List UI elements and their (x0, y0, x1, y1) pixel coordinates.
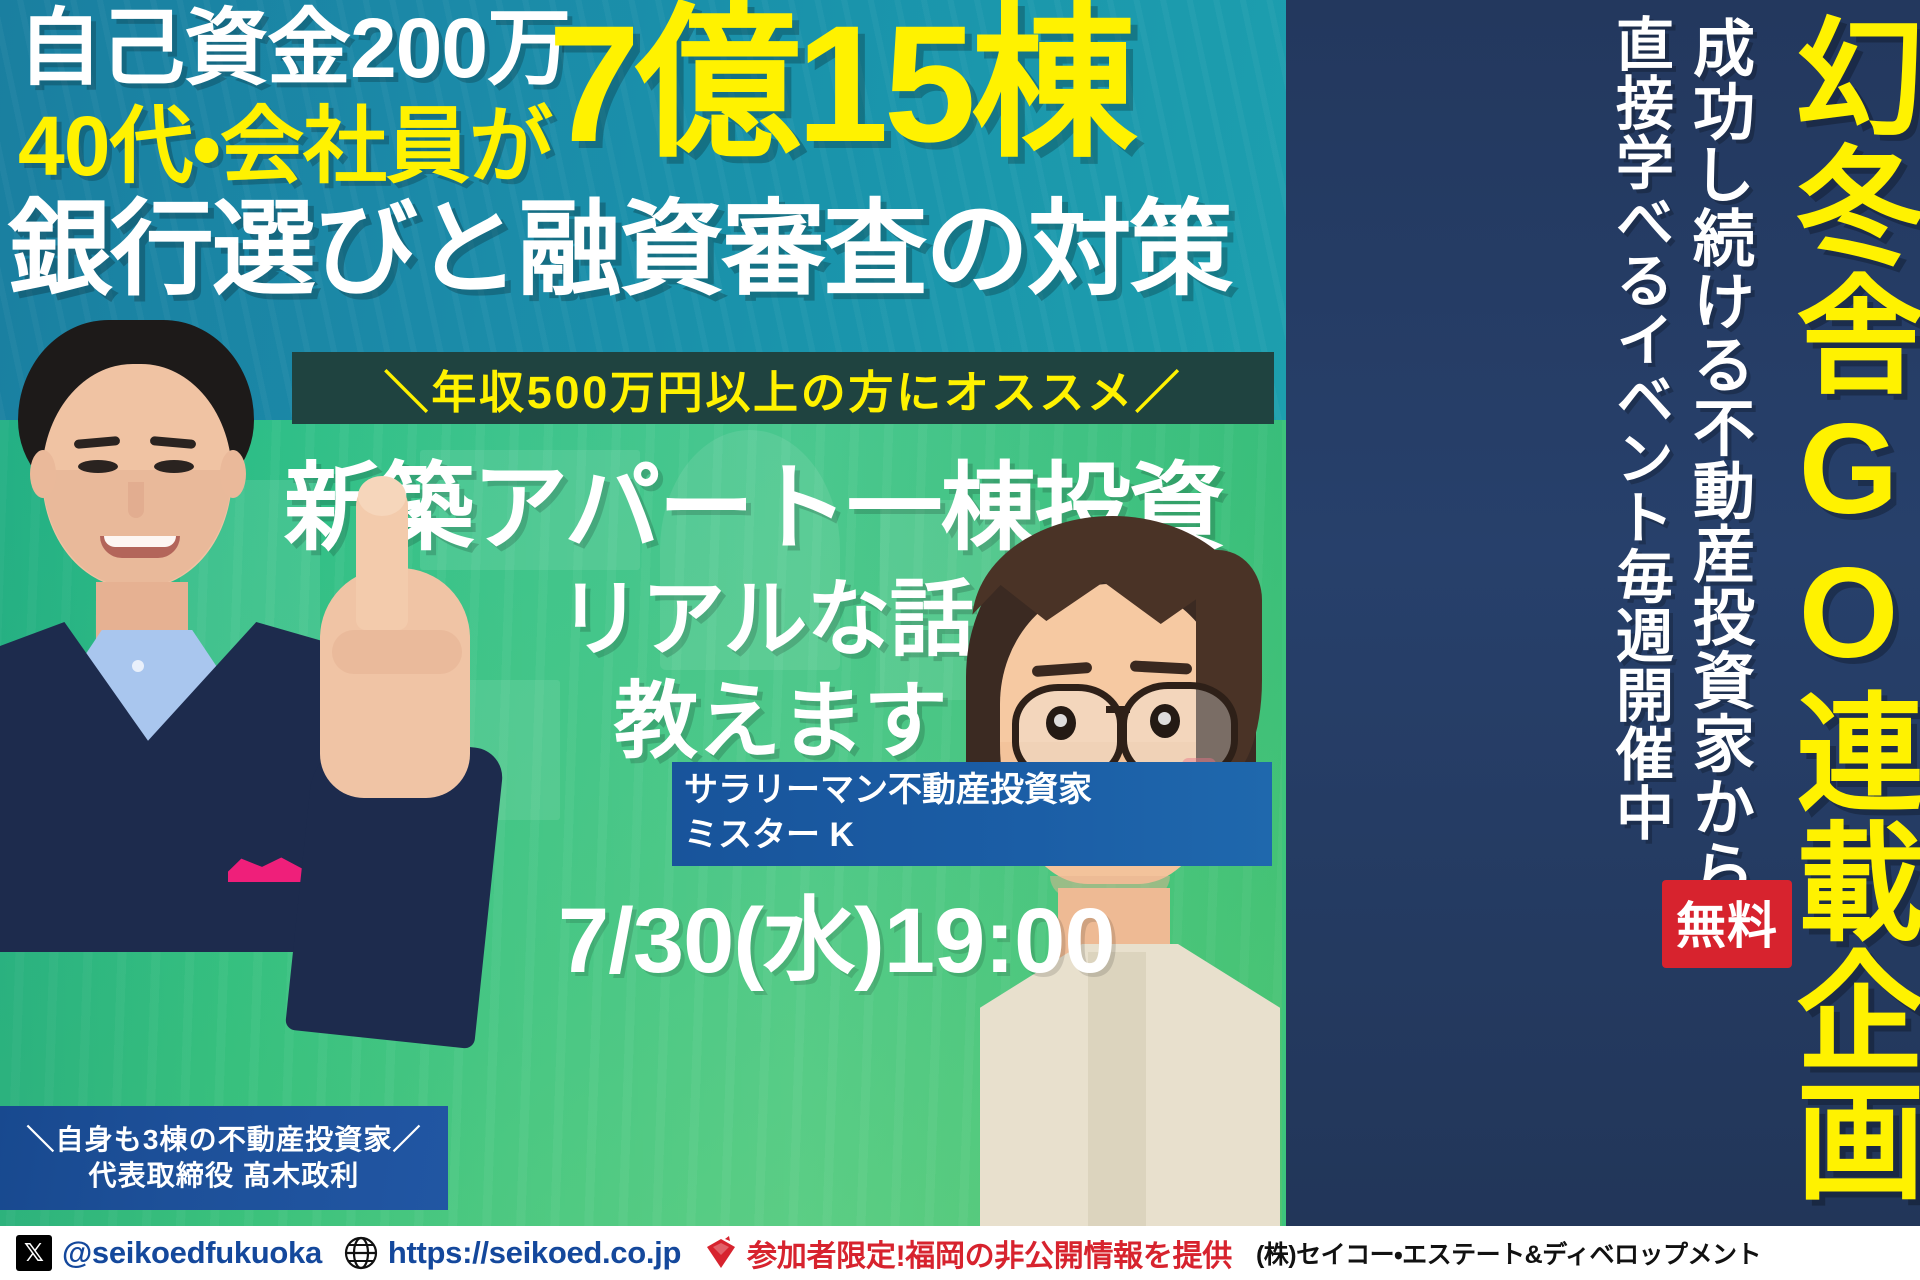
presenter-ear-right (220, 450, 246, 498)
sidebar-subline-2: 直接学べるイベント毎週開催中 (1610, 14, 1668, 842)
right-sidebar: 幻冬舎GO連載企画 成功し続ける不動産投資家から 直接学べるイベント毎週開催中 … (1286, 0, 1920, 1226)
free-badge-label: 無料 (1676, 898, 1778, 954)
event-datetime: 7/30(水)19:00 (558, 866, 1115, 999)
promo-note: 参加者限定!福岡の非公開情報を提供 (703, 1231, 1256, 1275)
presenter-shirt-button (132, 660, 144, 672)
main-panel: 自己資金200万 40代・会社員が 7億15棟 銀行選びと融資審査の対策 ＼年収… (0, 0, 1286, 1226)
brand-vertical-title: 幻冬舎GO連載企画 (1784, 10, 1912, 1204)
representative-box: ＼自身も3棟の不動産投資家／ 代表取締役 髙木政利 (0, 1106, 448, 1210)
anime-glasses-bridge (1106, 706, 1130, 713)
speaker-name: ミスター K (684, 813, 1272, 858)
x-glyph: 𝕏 (24, 1241, 44, 1266)
headline-line-1: 自己資金200万 (18, 6, 570, 90)
company-name-wrap: (株)セイコー・エステート&ディベロップメント (1256, 1235, 1761, 1271)
x-handle: @seikoedfukuoka (62, 1235, 322, 1271)
headline-big-number: 7億15棟 (548, 2, 1132, 168)
diamond-icon (703, 1235, 739, 1271)
website-link[interactable]: https://seikoed.co.jp (344, 1235, 703, 1271)
headline-line-2: 40代・会社員が (18, 104, 552, 188)
presenter-photo (0, 300, 560, 1226)
footer-bar: 𝕏 @seikoedfukuoka https://seikoed.co.jp … (0, 1226, 1920, 1280)
anime-eye-highlight-right (1158, 712, 1171, 725)
x-logo-icon: 𝕏 (16, 1235, 52, 1271)
free-badge: 無料 (1662, 880, 1792, 968)
presenter-fingertip (358, 476, 406, 516)
speaker-role: サラリーマン不動産投資家 (684, 768, 1272, 813)
speaker-info-band: サラリーマン不動産投資家 ミスター K (672, 762, 1272, 866)
promo-text: 参加者限定!福岡の非公開情報を提供 (747, 1231, 1232, 1275)
poster-canvas: 自己資金200万 40代・会社員が 7億15棟 銀行選びと融資審査の対策 ＼年収… (0, 0, 1920, 1280)
green-headline-3: 教えます (614, 654, 947, 775)
anime-eye-highlight-left (1054, 714, 1067, 727)
representative-name: 代表取締役 髙木政利 (89, 1158, 360, 1194)
presenter-ear-left (30, 450, 56, 498)
presenter-eye-right (154, 460, 194, 473)
sidebar-subline-1: 成功し続ける不動産投資家から (1686, 16, 1748, 901)
globe-icon (344, 1236, 378, 1270)
presenter-nose (128, 482, 144, 518)
representative-tagline: ＼自身も3棟の不動産投資家／ (26, 1122, 421, 1158)
headline-line-3: 銀行選びと融資審査の対策 (8, 198, 1231, 302)
x-account[interactable]: 𝕏 @seikoedfukuoka (16, 1235, 344, 1271)
presenter-teeth (104, 536, 176, 547)
presenter-knuckles (332, 630, 462, 674)
company-name: (株)セイコー・エステート&ディベロップメント (1256, 1235, 1761, 1271)
presenter-eye-left (78, 460, 118, 473)
website-url: https://seikoed.co.jp (388, 1235, 681, 1271)
